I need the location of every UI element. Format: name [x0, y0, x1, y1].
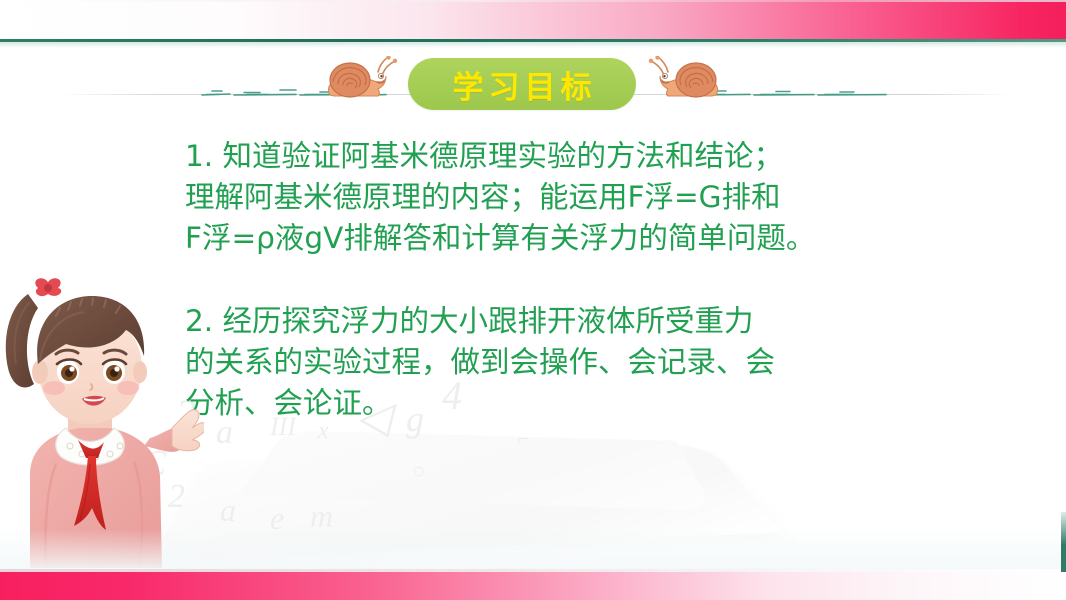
- objectives-body: 1. 知道验证阿基米德原理实验的方法和结论； 理解阿基米德原理的内容；能运用F浮…: [185, 136, 975, 424]
- snail-icon: [320, 56, 398, 100]
- watermark-symbol: a: [220, 492, 236, 529]
- watermark-book-page-2: [238, 430, 715, 511]
- slide-canvas: 2 a III x ◁ g 4 C 2 a e m ○ ⌐: [0, 0, 1066, 600]
- watermark-symbol: ⌐: [516, 426, 531, 452]
- top-decorative-bar: [0, 2, 1066, 39]
- title-badge-label: 学习目标: [448, 62, 597, 107]
- objective-paragraph-1: 1. 知道验证阿基米德原理实验的方法和结论； 理解阿基米德原理的内容；能运用F浮…: [185, 136, 975, 259]
- bottom-wash: [0, 529, 1066, 569]
- girl-student-illustration: [0, 268, 204, 568]
- title-badge: 学习目标: [408, 58, 636, 110]
- snail-icon: [648, 56, 726, 100]
- objective-paragraph-2: 2. 经历探究浮力的大小跟排开液体所受重力 的关系的实验过程，做到会操作、会记录…: [185, 301, 975, 424]
- watermark-symbol: ○: [412, 458, 425, 484]
- bottom-decorative-bar: [0, 572, 1066, 600]
- right-green-accent: [1061, 512, 1066, 572]
